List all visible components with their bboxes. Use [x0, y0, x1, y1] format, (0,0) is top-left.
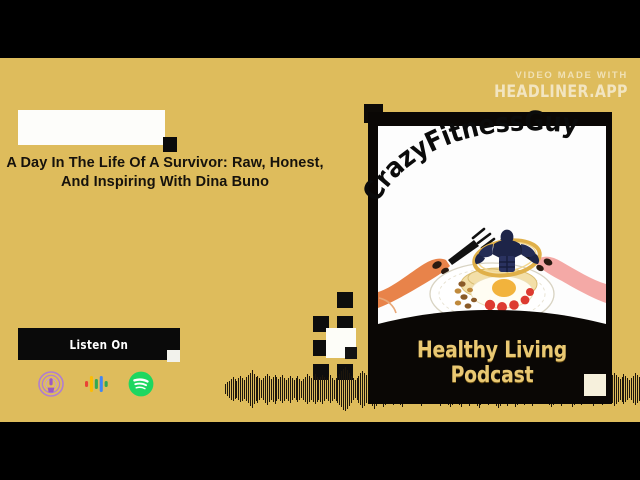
waveform-bar	[278, 379, 279, 399]
waveform-bar	[254, 374, 255, 404]
black-corner-notch	[163, 137, 177, 152]
waveform-bar	[307, 374, 308, 404]
waveform-bar	[240, 376, 241, 402]
waveform-bar	[353, 378, 354, 400]
waveform-bar	[328, 377, 329, 401]
waveform-bar	[259, 378, 260, 400]
platform-icon-row	[38, 371, 154, 397]
waveform-bar	[233, 377, 234, 401]
waveform-bar	[330, 375, 331, 403]
waveform-bar	[280, 377, 281, 401]
waveform-bar	[315, 374, 316, 404]
waveform-bar	[271, 379, 272, 400]
waveform-bar	[637, 375, 638, 403]
waveform-bar	[355, 380, 356, 398]
white-corner-notch	[167, 350, 180, 362]
waveform-bar	[248, 375, 249, 403]
waveform-bar	[263, 378, 264, 400]
watermark-line2: HEADLINER.APP	[494, 82, 628, 102]
video-canvas: VIDEO MADE WITH HEADLINER.APP A Day In T…	[0, 58, 640, 422]
waveform-bar	[318, 379, 319, 400]
waveform-bar	[288, 378, 289, 401]
waveform-bar	[250, 373, 251, 406]
waveform-bar	[336, 378, 337, 401]
waveform-bar	[235, 379, 236, 399]
episode-title-line1: A Day In The Life Of A Survivor: Raw, Ho…	[6, 155, 323, 171]
white-banner-block	[18, 110, 165, 145]
waveform-bar	[635, 373, 636, 405]
waveform-bar	[313, 376, 314, 402]
waveform-bar	[337, 376, 338, 403]
waveform-bar	[633, 376, 634, 403]
waveform-bar	[309, 376, 310, 402]
waveform-bar	[276, 377, 277, 401]
waveform-bar	[257, 376, 258, 403]
waveform-bar	[625, 376, 626, 402]
waveform-bar	[297, 376, 298, 402]
waveform-bar	[305, 377, 306, 402]
decor-square	[337, 292, 353, 308]
waveform-bar	[334, 380, 335, 399]
waveform-bar	[294, 380, 295, 398]
listen-on-label: Listen On	[70, 337, 129, 352]
waveform-bar	[620, 379, 621, 400]
waveform-bar	[351, 376, 352, 403]
waveform-bar	[231, 379, 232, 400]
video-player-frame: VIDEO MADE WITH HEADLINER.APP A Day In T…	[0, 0, 640, 480]
waveform-bar	[286, 380, 287, 399]
waveform-bar	[246, 377, 247, 401]
artwork-subtitle: Healthy Living Podcast	[380, 338, 604, 388]
waveform-bar	[303, 379, 304, 400]
waveform-bar	[616, 375, 617, 404]
black-square-accent	[345, 347, 357, 359]
podcast-artwork: CrazyFitnessGuy Healthy Living Podcast	[360, 104, 612, 404]
waveform-bar	[299, 379, 300, 400]
waveform-bar	[269, 376, 270, 402]
waveform-bar	[238, 378, 239, 400]
google-podcasts-icon[interactable]	[83, 371, 109, 397]
waveform-bar	[311, 378, 312, 400]
waveform-bar	[275, 375, 276, 404]
waveform-bar	[317, 377, 318, 402]
waveform-bar	[339, 374, 340, 405]
waveform-bar	[612, 375, 613, 403]
waveform-bar	[282, 375, 283, 403]
letterbox-bar-bottom	[0, 422, 640, 480]
waveform-bar	[345, 367, 346, 411]
waveform-bar	[290, 376, 291, 403]
waveform-bar	[357, 378, 358, 400]
waveform-bar	[273, 377, 274, 402]
apple-podcasts-icon[interactable]	[38, 371, 64, 397]
waveform-bar	[324, 377, 325, 401]
waveform-bar	[227, 382, 228, 396]
waveform-bar	[256, 377, 257, 401]
waveform-bar	[349, 373, 350, 406]
waveform-bar	[225, 384, 226, 394]
waveform-bar	[229, 381, 230, 398]
waveform-bar	[320, 377, 321, 402]
waveform-bar	[639, 377, 640, 401]
episode-title-line2: And Inspiring With Dina Buno	[0, 173, 330, 192]
waveform-bar	[631, 378, 632, 400]
waveform-bar	[244, 380, 245, 399]
waveform-bar	[629, 380, 630, 398]
waveform-bar	[242, 378, 243, 401]
waveform-bar	[326, 379, 327, 399]
waveform-bar	[284, 378, 285, 401]
listen-on-button[interactable]: Listen On	[18, 328, 180, 360]
waveform-bar	[622, 377, 623, 402]
headliner-watermark: VIDEO MADE WITH HEADLINER.APP	[484, 70, 628, 102]
waveform-bar	[347, 370, 348, 409]
waveform-bar	[301, 381, 302, 398]
waveform-bar	[236, 381, 237, 398]
waveform-bar	[341, 371, 342, 407]
waveform-bar	[614, 373, 615, 406]
waveform-bar	[261, 380, 262, 398]
waveform-bar	[343, 369, 344, 410]
watermark-line1: VIDEO MADE WITH	[484, 70, 628, 81]
letterbox-bar-top	[0, 0, 640, 58]
waveform-bar	[265, 376, 266, 403]
waveform-bar	[296, 378, 297, 400]
waveform-bar	[252, 370, 253, 408]
waveform-bar	[267, 374, 268, 405]
waveform-bar	[332, 378, 333, 401]
waveform-bar	[322, 375, 323, 404]
waveform-bar	[627, 378, 628, 400]
episode-title: A Day In The Life Of A Survivor: Raw, Ho…	[0, 154, 330, 193]
muscular-figure-emblem	[470, 228, 544, 280]
waveform-bar	[292, 378, 293, 400]
waveform-bar	[618, 377, 619, 402]
spotify-icon[interactable]	[128, 371, 154, 397]
waveform-bar	[623, 374, 624, 404]
artwork-face	[378, 126, 606, 331]
